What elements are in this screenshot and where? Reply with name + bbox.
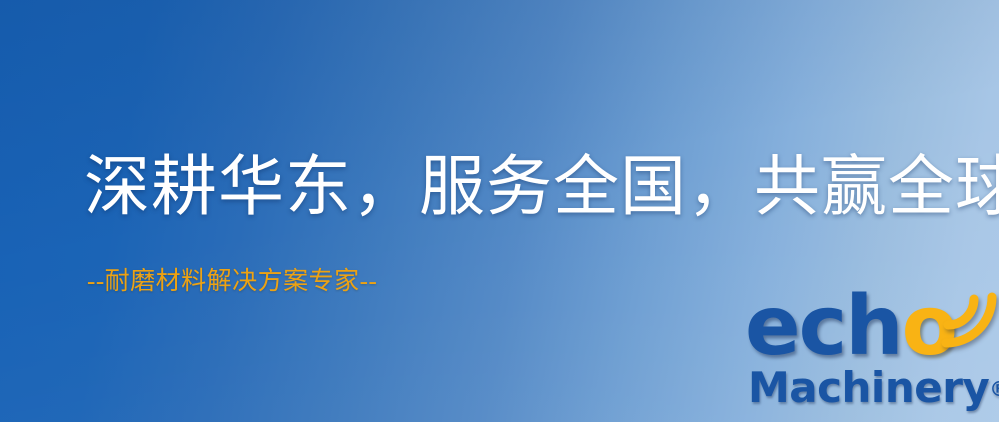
logo-echo-prefix: ech bbox=[745, 279, 902, 374]
echo-machinery-logo[interactable]: echo Machinery® bbox=[742, 291, 999, 422]
banner-headline: 深耕华东，服务全国，共赢全球 bbox=[84, 150, 999, 226]
registered-trademark-icon: ® bbox=[989, 377, 999, 401]
logo-tagline-text: Machinery bbox=[748, 363, 989, 412]
echo-signal-arcs-icon bbox=[938, 289, 999, 351]
logo-echo-text: echo bbox=[745, 286, 956, 368]
logo-tagline: Machinery® bbox=[748, 367, 999, 409]
hero-banner: 深耕华东，服务全国，共赢全球 --耐磨材料解决方案专家-- echo Machi… bbox=[0, 0, 999, 422]
banner-subtitle: --耐磨材料解决方案专家-- bbox=[87, 266, 377, 298]
